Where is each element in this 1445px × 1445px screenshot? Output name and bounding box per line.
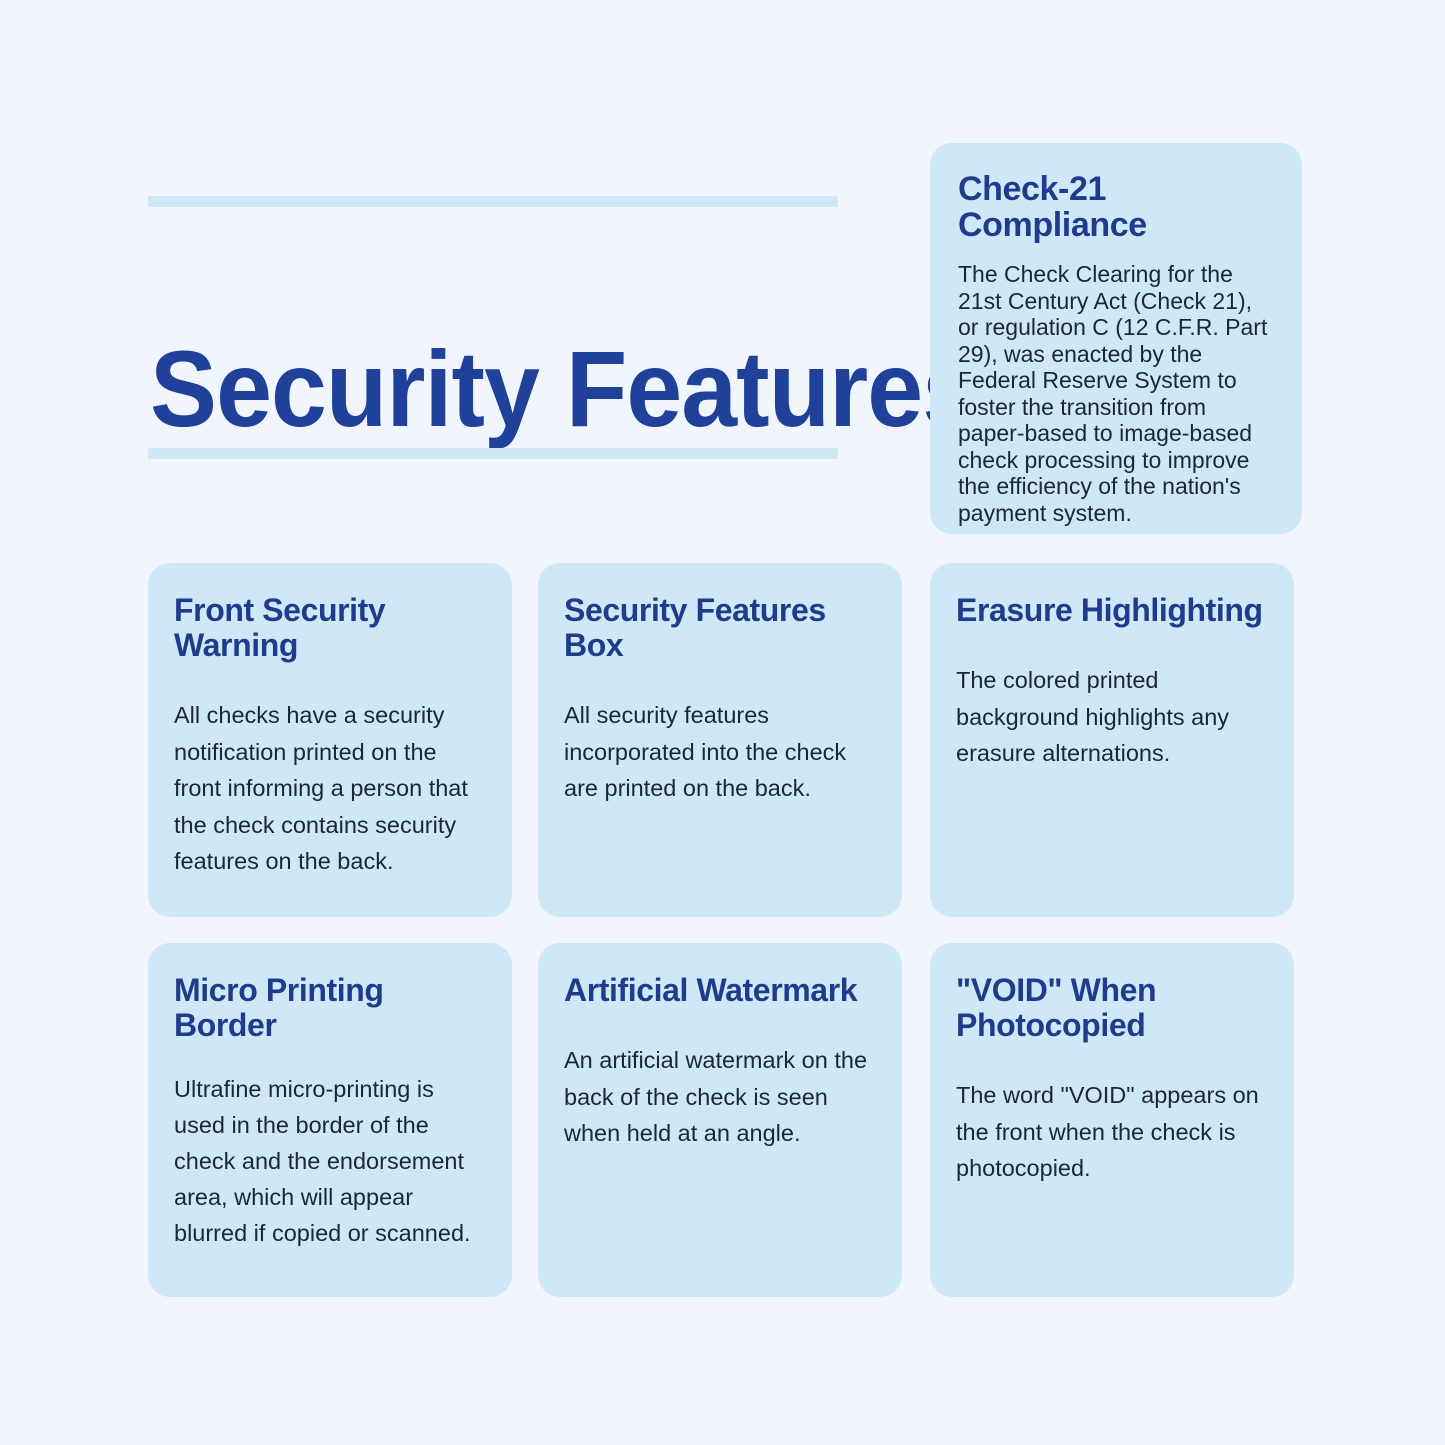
card-body: The Check Clearing for the 21st Century … <box>958 261 1274 526</box>
card-title: "VOID" When Photocopied <box>956 973 1268 1043</box>
card-front-security-warning: Front Security Warning All checks have a… <box>148 563 512 917</box>
card-void-when-photocopied: "VOID" When Photocopied The word "VOID" … <box>930 943 1294 1297</box>
card-body: All security features incorporated into … <box>564 697 876 807</box>
card-artificial-watermark: Artificial Watermark An artificial water… <box>538 943 902 1297</box>
card-title: Micro Printing Border <box>174 973 486 1043</box>
card-title: Front Security Warning <box>174 593 486 663</box>
card-body: Ultrafine micro-printing is used in the … <box>174 1071 486 1251</box>
card-security-features-box: Security Features Box All security featu… <box>538 563 902 917</box>
card-body: The colored printed background highlight… <box>956 662 1268 772</box>
card-title: Artificial Watermark <box>564 973 876 1008</box>
infographic-page: Security Features Check-21 Compliance Th… <box>0 0 1445 1445</box>
card-body: The word "VOID" appears on the front whe… <box>956 1077 1268 1187</box>
card-micro-printing-border: Micro Printing Border Ultrafine micro-pr… <box>148 943 512 1297</box>
card-title: Erasure Highlighting <box>956 593 1268 628</box>
card-check-21-compliance: Check-21 Compliance The Check Clearing f… <box>930 143 1302 534</box>
page-title: Security Features <box>150 334 801 444</box>
title-block: Security Features <box>148 196 838 466</box>
card-body: All checks have a security notification … <box>174 697 486 880</box>
card-title: Check-21 Compliance <box>958 171 1274 243</box>
title-divider-top <box>148 196 838 207</box>
card-erasure-highlighting: Erasure Highlighting The colored printed… <box>930 563 1294 917</box>
card-title: Security Features Box <box>564 593 876 663</box>
card-body: An artificial watermark on the back of t… <box>564 1042 876 1152</box>
title-divider-bottom <box>148 448 838 459</box>
